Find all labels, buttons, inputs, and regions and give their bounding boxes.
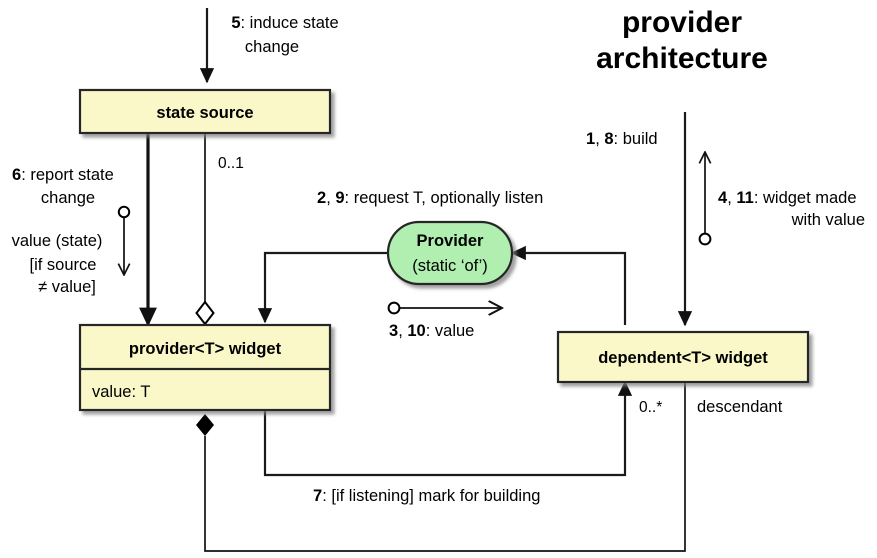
msg2-9-number1: 2 xyxy=(317,189,326,207)
msg4-11-text: : widget made xyxy=(754,189,857,207)
svg-text:2, 9: request T, optionally li: 2, 9: request T, optionally listen xyxy=(317,189,543,207)
msg3-10-number2: 10 xyxy=(407,322,425,340)
msg3-10-number1: 3 xyxy=(389,322,398,340)
multiplicity-zero-star: 0..* xyxy=(639,399,662,416)
node-provider[interactable]: Provider (static ‘of’) xyxy=(388,222,512,284)
label-mark-for-building: 7: [if listening] mark for building xyxy=(313,487,540,505)
page-title-line1: provider xyxy=(622,6,742,39)
msg6-text2: change xyxy=(41,189,95,207)
svg-text:5: induce state: 5: induce state xyxy=(231,14,338,32)
msg3-10-sep: , xyxy=(398,322,407,340)
role-descendant: descendant xyxy=(697,398,783,416)
msg4-11-sep: , xyxy=(727,189,736,207)
msg1-8-text: : build xyxy=(614,130,658,148)
label-report-state-change: 6: report state change value (state) [if… xyxy=(12,166,114,296)
label-induce-state-change: 5: induce state change xyxy=(231,14,338,56)
msg4-11-number2: 11 xyxy=(736,189,753,207)
msg6-guard-1: value (state) xyxy=(12,232,103,250)
provider-title: Provider xyxy=(417,232,485,250)
label-value: 3, 10: value xyxy=(389,322,474,340)
msg1-8-number2: 8 xyxy=(604,130,613,148)
dependent-widget-label: dependent<T> widget xyxy=(598,349,768,367)
msg1-8-number1: 1 xyxy=(586,130,595,148)
edge-provider-to-provider-widget xyxy=(265,253,388,322)
provider-architecture-diagram: state source provider<T> widget value: T… xyxy=(0,0,877,558)
msg3-10-text: : value xyxy=(426,322,475,340)
msg6-number: 6 xyxy=(12,166,21,184)
label-build: 1, 8: build xyxy=(586,130,658,148)
edge-value-return xyxy=(389,303,502,314)
msg2-9-text: : request T, optionally listen xyxy=(345,189,544,207)
edge-value-state-guard xyxy=(119,207,129,275)
edge-widget-made-with-value xyxy=(700,152,711,244)
edge-dependent-to-provider xyxy=(512,253,625,325)
svg-text:4, 11: widget made: 4, 11: widget made xyxy=(718,189,857,207)
svg-text:6: report state: 6: report state xyxy=(12,166,114,184)
msg7-text: : [if listening] mark for building xyxy=(322,487,540,505)
edge-aggregation-state-source xyxy=(197,133,214,324)
msg6-guard-3: ≠ value] xyxy=(38,278,96,296)
page-title: provider architecture xyxy=(596,6,768,75)
msg1-8-sep: , xyxy=(595,130,604,148)
svg-text:3, 10: value: 3, 10: value xyxy=(389,322,474,340)
provider-subtitle: (static ‘of’) xyxy=(412,257,487,275)
provider-widget-title: provider<T> widget xyxy=(129,340,282,358)
msg5-text: : induce state xyxy=(241,14,339,32)
msg6-guard-2: [if source xyxy=(30,256,97,274)
msg5-number: 5 xyxy=(231,14,240,32)
node-dependent-widget[interactable]: dependent<T> widget xyxy=(558,332,808,382)
msg7-number: 7 xyxy=(313,487,322,505)
msg6-text: : report state xyxy=(21,166,114,184)
svg-text:7: [if listening] mark for bui: 7: [if listening] mark for building xyxy=(313,487,540,505)
msg2-9-sep: , xyxy=(326,189,335,207)
state-source-label: state source xyxy=(156,104,253,122)
diagram-canvas: state source provider<T> widget value: T… xyxy=(0,0,877,558)
label-widget-made-with-value: 4, 11: widget made with value xyxy=(718,189,865,229)
svg-text:1, 8: build: 1, 8: build xyxy=(586,130,658,148)
label-request-t: 2, 9: request T, optionally listen xyxy=(317,189,543,207)
node-state-source[interactable]: state source xyxy=(80,90,330,133)
multiplicity-zero-one: 0..1 xyxy=(218,155,244,172)
page-title-line2: architecture xyxy=(596,42,768,75)
msg2-9-number2: 9 xyxy=(335,189,344,207)
node-provider-widget[interactable]: provider<T> widget value: T xyxy=(80,325,330,410)
msg5-text2: change xyxy=(245,38,299,56)
msg4-11-text2: with value xyxy=(791,211,865,229)
provider-widget-attribute: value: T xyxy=(92,383,150,401)
